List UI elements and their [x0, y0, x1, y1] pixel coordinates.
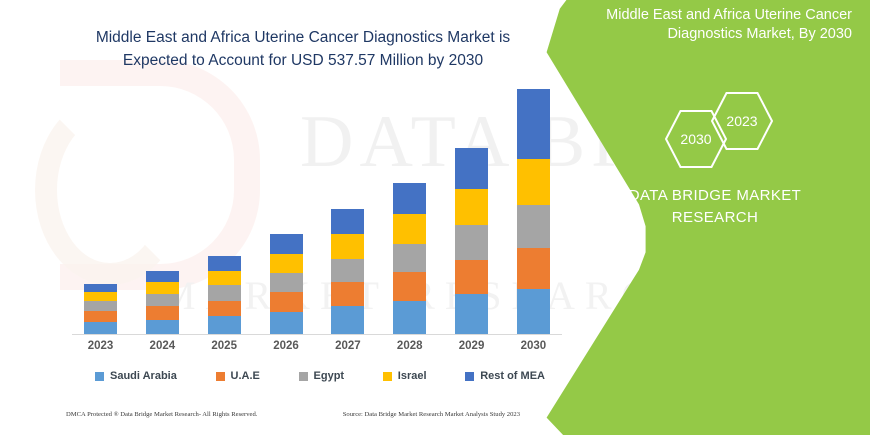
bar-segment [146, 271, 179, 282]
x-axis-label: 2026 [258, 340, 315, 360]
bar-column [72, 284, 129, 334]
bar-segment [84, 322, 117, 334]
legend-swatch-icon [216, 372, 225, 381]
legend-label: Rest of MEA [480, 370, 545, 382]
page-title: Middle East and Africa Uterine Cancer Di… [48, 26, 558, 72]
stacked-bar [331, 209, 364, 334]
bar-segment [84, 284, 117, 292]
bar-segment [393, 214, 426, 244]
legend-item[interactable]: Rest of MEA [465, 370, 545, 382]
brand-name-line-2: RESEARCH [590, 207, 840, 229]
bar-segment [270, 312, 303, 334]
bar-segment [393, 244, 426, 272]
hexagon-group: 2023 2030 [655, 92, 795, 170]
x-axis-line [72, 334, 562, 335]
hexagon-2030-label: 2030 [680, 131, 711, 147]
bar-segment [146, 294, 179, 306]
stacked-bar [393, 183, 426, 334]
bar-segment [208, 256, 241, 270]
stacked-bar [84, 284, 117, 334]
bar-column [258, 234, 315, 334]
bar-segment [146, 306, 179, 319]
legend-label: Egypt [314, 370, 345, 382]
footer-copyright: DMCA Protected ® Data Bridge Market Rese… [66, 411, 257, 418]
bar-segment [84, 301, 117, 311]
hexagon-2023-label: 2023 [726, 113, 757, 129]
bar-segment [208, 271, 241, 285]
page-title-line-1: Middle East and Africa Uterine Cancer Di… [96, 29, 510, 46]
bar-segment [270, 292, 303, 312]
bar-segment [517, 248, 550, 289]
bar-segment [146, 282, 179, 294]
legend-item[interactable]: Saudi Arabia [95, 370, 177, 382]
brand-panel-title-line-1: Middle East and Africa Uterine Cancer [580, 6, 852, 25]
stacked-bar [455, 148, 488, 334]
bar-segment [208, 301, 241, 317]
bar-segment [331, 234, 364, 258]
bar-segment [331, 282, 364, 306]
footer: DMCA Protected ® Data Bridge Market Rese… [0, 411, 580, 418]
x-axis-label: 2023 [72, 340, 129, 360]
bar-segment [517, 205, 550, 247]
legend-swatch-icon [299, 372, 308, 381]
bar-segment [331, 306, 364, 334]
chart-legend: Saudi ArabiaU.A.EEgyptIsraelRest of MEA [95, 370, 545, 382]
bar-segment [146, 320, 179, 334]
bar-segment [517, 159, 550, 206]
legend-item[interactable]: Egypt [299, 370, 345, 382]
bar-column [134, 271, 191, 334]
infographic-page: DATA BRIDGE MARKET RESEARCH Middle East … [0, 0, 870, 435]
x-axis-label: 2025 [196, 340, 253, 360]
bar-column [196, 256, 253, 334]
x-axis-label: 2029 [443, 340, 500, 360]
x-axis-label: 2028 [381, 340, 438, 360]
legend-label: U.A.E [231, 370, 260, 382]
bar-segment [208, 285, 241, 301]
bar-segment [517, 89, 550, 159]
bar-segment [455, 260, 488, 294]
brand-panel-title-line-2: Diagnostics Market, By 2030 [580, 25, 852, 44]
bar-segment [393, 301, 426, 334]
legend-swatch-icon [465, 372, 474, 381]
legend-swatch-icon [95, 372, 104, 381]
bar-segment [517, 289, 550, 334]
bar-segment [331, 209, 364, 234]
legend-swatch-icon [383, 372, 392, 381]
x-axis-label: 2024 [134, 340, 191, 360]
legend-item[interactable]: U.A.E [216, 370, 260, 382]
bar-segment [455, 189, 488, 226]
hexagon-2030: 2030 [665, 110, 727, 168]
bar-segment [270, 273, 303, 292]
bar-segment [331, 259, 364, 282]
bar-segment [84, 292, 117, 301]
bar-column [319, 209, 376, 334]
page-title-line-2: Expected to Account for USD 537.57 Milli… [48, 49, 558, 72]
brand-name-line-1: DATA BRIDGE MARKET [590, 185, 840, 207]
bar-segment [208, 316, 241, 334]
bar-column [381, 183, 438, 334]
stacked-bar-chart [72, 90, 562, 335]
bar-column [443, 148, 500, 334]
bar-column [505, 89, 562, 334]
chart-bars [72, 90, 562, 334]
bar-segment [270, 254, 303, 273]
stacked-bar [270, 234, 303, 334]
legend-label: Israel [398, 370, 427, 382]
legend-item[interactable]: Israel [383, 370, 427, 382]
bar-segment [455, 294, 488, 334]
brand-name: DATA BRIDGE MARKET RESEARCH [590, 185, 840, 229]
brand-panel-title: Middle East and Africa Uterine Cancer Di… [580, 6, 852, 44]
bar-segment [393, 272, 426, 301]
stacked-bar [208, 256, 241, 334]
x-axis-label: 2030 [505, 340, 562, 360]
bar-segment [393, 183, 426, 214]
footer-source: Source: Data Bridge Market Research Mark… [343, 411, 520, 418]
legend-label: Saudi Arabia [110, 370, 177, 382]
chart-plot-area [72, 90, 562, 335]
x-axis-labels: 20232024202520262027202820292030 [72, 340, 562, 360]
stacked-bar [146, 271, 179, 334]
bar-segment [455, 225, 488, 259]
x-axis-label: 2027 [319, 340, 376, 360]
bar-segment [84, 311, 117, 322]
bar-segment [270, 234, 303, 254]
bar-segment [455, 148, 488, 189]
stacked-bar [517, 89, 550, 334]
